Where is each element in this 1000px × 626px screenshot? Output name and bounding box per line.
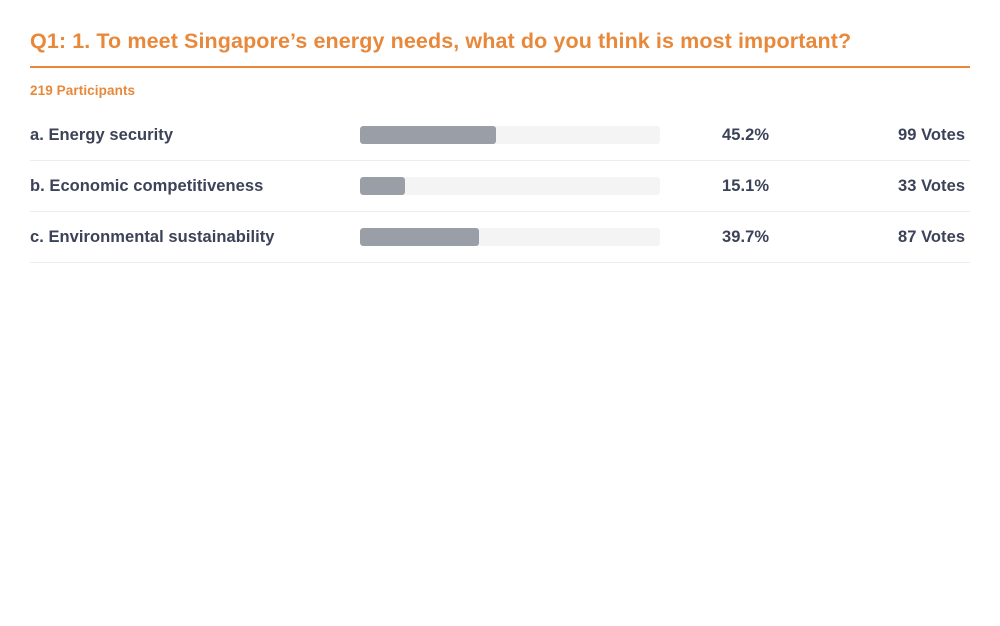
progress-bar-track <box>360 177 660 195</box>
option-label: b. Economic competitiveness <box>30 177 263 195</box>
option-label: a. Energy security <box>30 126 173 144</box>
progress-bar-fill <box>360 228 479 246</box>
option-percentage: 45.2% <box>660 126 769 144</box>
option-votes: 87 Votes <box>820 228 965 246</box>
option-percentage: 15.1% <box>660 177 769 195</box>
page-title: Q1: 1. To meet Singapore’s energy needs,… <box>15 0 985 58</box>
progress-bar-track <box>360 126 660 144</box>
option-votes: 33 Votes <box>820 177 965 195</box>
table-row[interactable]: c. Environmental sustainability 39.7% 87… <box>30 212 970 263</box>
option-votes: 99 Votes <box>820 126 965 144</box>
poll-results-table: a. Energy security 45.2% 99 Votes b. Eco… <box>30 110 970 263</box>
progress-bar-track <box>360 228 660 246</box>
option-label: c. Environmental sustainability <box>30 228 275 246</box>
option-percentage: 39.7% <box>660 228 769 246</box>
poll-results-card: Q1: 1. To meet Singapore’s energy needs,… <box>0 0 1000 626</box>
participants-count-label: 219 Participants <box>15 68 985 98</box>
progress-bar-fill <box>360 177 405 195</box>
progress-bar-fill <box>360 126 496 144</box>
table-row[interactable]: a. Energy security 45.2% 99 Votes <box>30 110 970 161</box>
table-row[interactable]: b. Economic competitiveness 15.1% 33 Vot… <box>30 161 970 212</box>
